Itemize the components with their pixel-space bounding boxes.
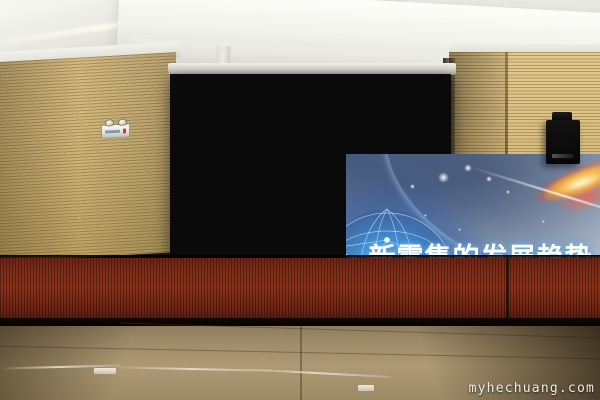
speaker-brand-badge <box>552 154 574 158</box>
floor-cable-cover <box>358 385 374 391</box>
spark-icon <box>464 164 472 172</box>
spark-icon <box>424 214 427 217</box>
wainscot-seam <box>506 258 509 320</box>
emergency-light-label <box>105 130 120 134</box>
spark-icon <box>542 220 545 223</box>
lamp-head-right-icon <box>118 118 127 125</box>
left-wall-shading <box>0 52 176 262</box>
conference-room-photo: 新零售的发展趋势 人人乐连锁商业集团股份有限公司 myhechuang.com <box>0 0 600 400</box>
lamp-head-left-icon <box>105 119 114 126</box>
emergency-light-fixture <box>101 123 130 139</box>
floor-cable-cover <box>94 368 116 374</box>
floor-seam <box>300 326 302 400</box>
spark-icon <box>410 184 415 189</box>
spark-icon <box>506 190 510 194</box>
spark-icon <box>486 176 492 182</box>
projection-screen-frame: 新零售的发展趋势 人人乐连锁商业集团股份有限公司 <box>170 74 451 280</box>
wall-speaker <box>546 120 580 164</box>
spark-icon <box>458 228 461 231</box>
dark-wood-wainscot <box>0 258 600 324</box>
floor-shadow-left <box>0 326 170 400</box>
spark-icon <box>438 172 449 183</box>
emergency-light-led-icon <box>123 128 126 133</box>
watermark: myhechuang.com <box>469 381 595 396</box>
